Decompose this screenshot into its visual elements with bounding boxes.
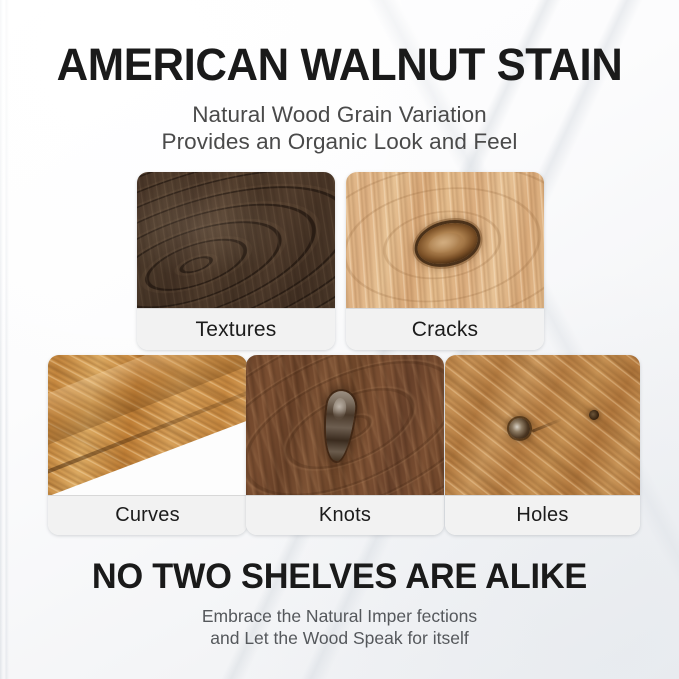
card-cracks[interactable]: Cracks bbox=[346, 172, 544, 350]
card-knots-label: Knots bbox=[246, 495, 444, 535]
card-textures-photo bbox=[137, 172, 335, 308]
card-holes-photo bbox=[445, 355, 640, 495]
header-subtitle-line-1: Natural Wood Grain Variation bbox=[0, 102, 679, 129]
card-holes[interactable]: Holes bbox=[445, 355, 640, 535]
page-title: AMERICAN WALNUT STAIN bbox=[10, 40, 669, 90]
footer-subtitle-line-1: Embrace the Natural Imper fections bbox=[0, 606, 679, 628]
card-knots-photo bbox=[246, 355, 444, 495]
wood-texture-honey-oak bbox=[346, 172, 544, 308]
header-subtitle: Natural Wood Grain Variation Provides an… bbox=[0, 102, 679, 155]
card-cracks-photo bbox=[346, 172, 544, 308]
card-curves-photo bbox=[48, 355, 247, 495]
wood-texture-plank-edge bbox=[48, 355, 247, 495]
wood-texture-red-brown bbox=[246, 355, 444, 495]
footer-block: NO TWO SHELVES ARE ALIKE Embrace the Nat… bbox=[0, 557, 679, 649]
footer-title: NO TWO SHELVES ARE ALIKE bbox=[7, 557, 672, 597]
card-holes-label: Holes bbox=[445, 495, 640, 535]
wood-texture-dark-walnut bbox=[137, 172, 335, 308]
photo-shading bbox=[137, 172, 335, 308]
header-subtitle-line-2: Provides an Organic Look and Feel bbox=[0, 129, 679, 156]
footer-subtitle-line-2: and Let the Wood Speak for itself bbox=[0, 628, 679, 650]
wood-texture-medium-oak bbox=[445, 355, 640, 495]
card-curves-label: Curves bbox=[48, 495, 247, 535]
infographic-canvas: AMERICAN WALNUT STAIN Natural Wood Grain… bbox=[0, 0, 679, 679]
card-curves[interactable]: Curves bbox=[48, 355, 247, 535]
card-textures-label: Textures bbox=[137, 308, 335, 350]
card-cracks-label: Cracks bbox=[346, 308, 544, 350]
header-block: AMERICAN WALNUT STAIN Natural Wood Grain… bbox=[0, 40, 679, 155]
card-textures[interactable]: Textures bbox=[137, 172, 335, 350]
card-knots[interactable]: Knots bbox=[246, 355, 444, 535]
footer-subtitle: Embrace the Natural Imper fections and L… bbox=[0, 606, 679, 649]
